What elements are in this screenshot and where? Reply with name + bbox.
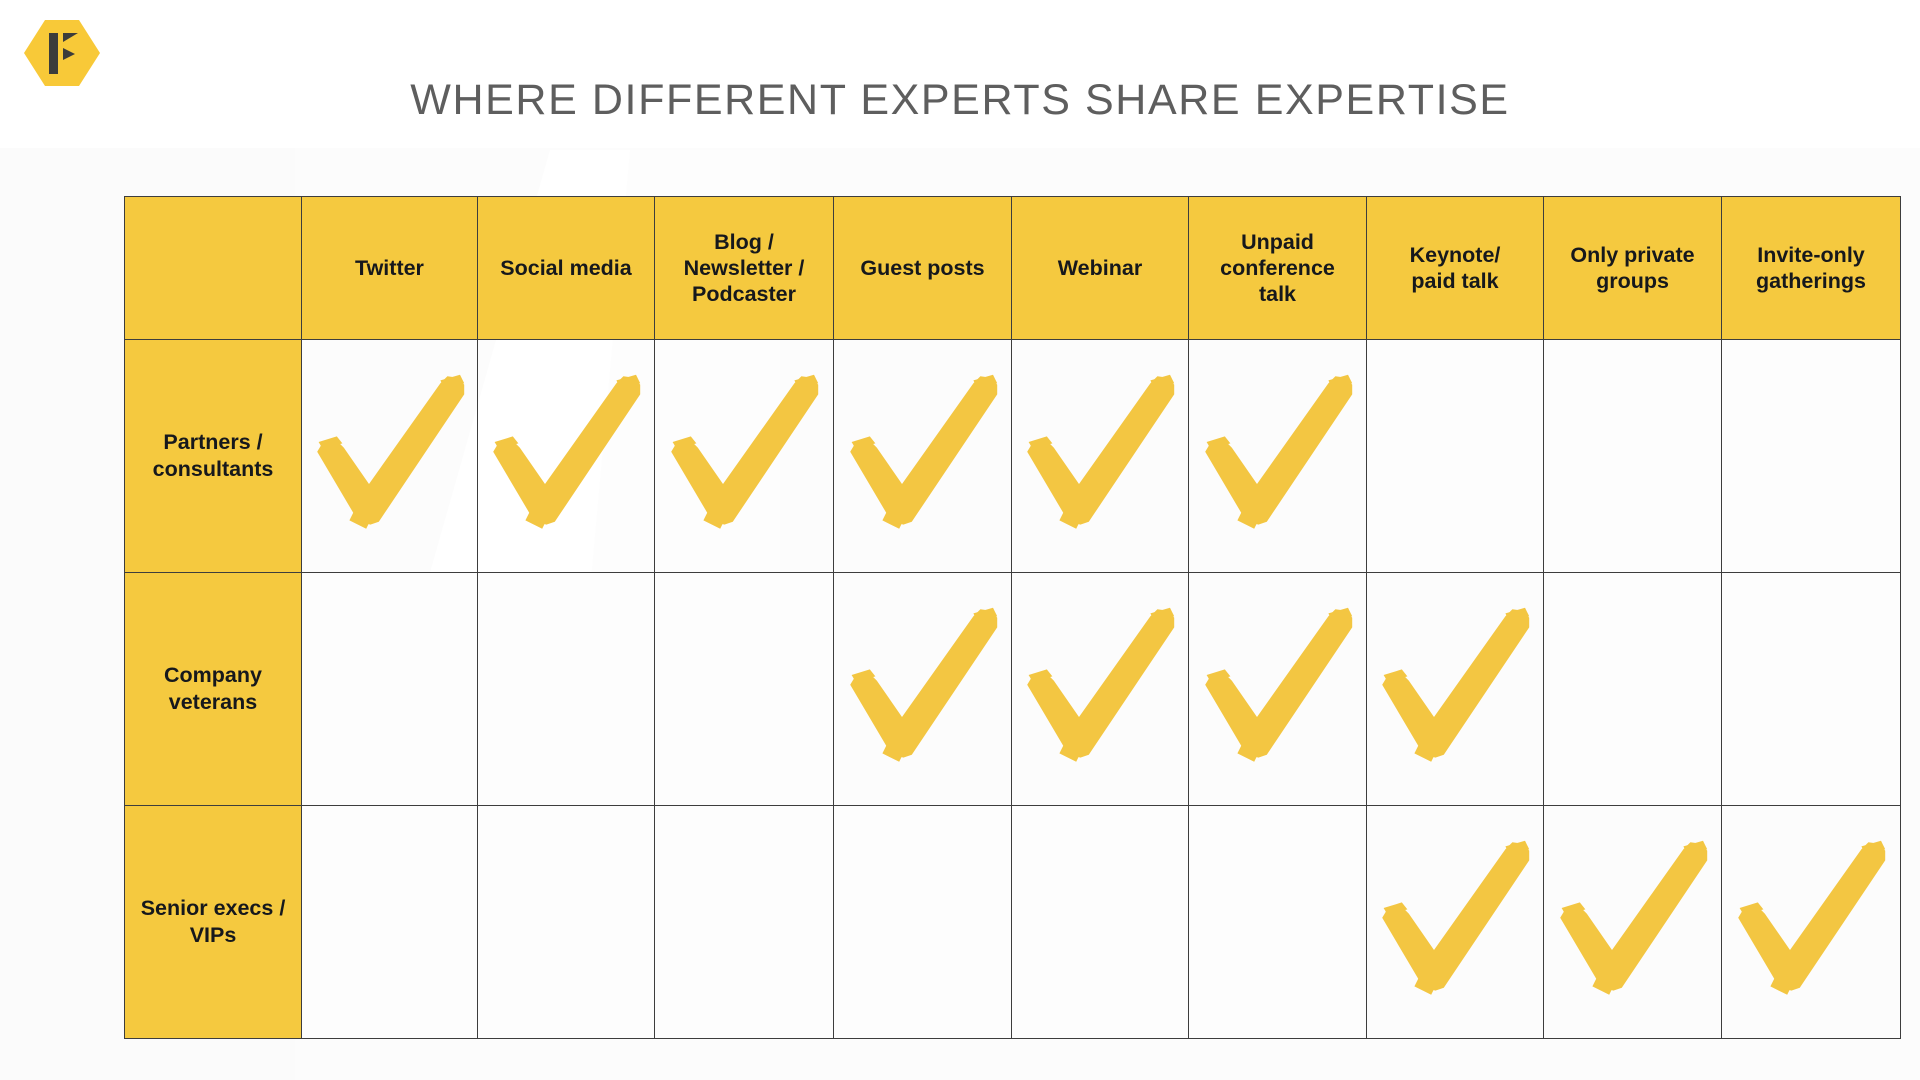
column-header-line: Podcaster bbox=[655, 281, 833, 307]
matrix-cell-checked[interactable] bbox=[1012, 340, 1189, 573]
matrix-cell-empty[interactable] bbox=[1189, 806, 1367, 1039]
column-header-social-media: Social media bbox=[478, 197, 655, 340]
hand-drawn-checkmark-icon bbox=[1012, 340, 1188, 572]
column-header-blog-newsletter-podcaster: Blog / Newsletter / Podcaster bbox=[655, 197, 834, 340]
row-label-line: Partners / bbox=[125, 429, 301, 456]
row-label-line: Company bbox=[125, 662, 301, 689]
matrix-cell-empty[interactable] bbox=[478, 573, 655, 806]
column-header-line: Invite-only bbox=[1722, 242, 1900, 268]
column-header-line: conference bbox=[1189, 255, 1366, 281]
matrix-cell-empty[interactable] bbox=[302, 806, 478, 1039]
hand-drawn-checkmark-icon bbox=[302, 340, 477, 572]
column-header-keynote-paid-talk: Keynote/ paid talk bbox=[1367, 197, 1544, 340]
column-header-line: Webinar bbox=[1012, 255, 1188, 281]
table-row: Partners /consultants bbox=[125, 340, 1901, 573]
hand-drawn-checkmark-icon bbox=[1189, 573, 1366, 805]
matrix-cell-checked[interactable] bbox=[478, 340, 655, 573]
matrix-cell-empty[interactable] bbox=[655, 573, 834, 806]
matrix-cell-empty[interactable] bbox=[478, 806, 655, 1039]
column-header-line: Twitter bbox=[302, 255, 477, 281]
page-title: WHERE DIFFERENT EXPERTS SHARE EXPERTISE bbox=[0, 76, 1920, 125]
hand-drawn-checkmark-icon bbox=[1189, 340, 1366, 572]
column-header-line: gatherings bbox=[1722, 268, 1900, 294]
column-header-line: Blog / bbox=[655, 229, 833, 255]
row-label-line: Senior execs / bbox=[125, 895, 301, 922]
hand-drawn-checkmark-icon bbox=[1722, 806, 1900, 1038]
matrix-cell-checked[interactable] bbox=[1367, 573, 1544, 806]
matrix-cell-empty[interactable] bbox=[1012, 806, 1189, 1039]
matrix-cell-checked[interactable] bbox=[302, 340, 478, 573]
expertise-matrix-table: Twitter Social media Blog / Newsletter /… bbox=[124, 196, 1901, 1039]
table-corner-cell bbox=[125, 197, 302, 340]
matrix-cell-empty[interactable] bbox=[655, 806, 834, 1039]
column-header-line: paid talk bbox=[1367, 268, 1543, 294]
column-header-line: Keynote/ bbox=[1367, 242, 1543, 268]
hand-drawn-checkmark-icon bbox=[1544, 806, 1721, 1038]
matrix-cell-checked[interactable] bbox=[834, 573, 1012, 806]
hand-drawn-checkmark-icon bbox=[478, 340, 654, 572]
row-label-2: Companyveterans bbox=[125, 573, 302, 806]
table-header-row: Twitter Social media Blog / Newsletter /… bbox=[125, 197, 1901, 340]
column-header-line: Unpaid bbox=[1189, 229, 1366, 255]
hand-drawn-checkmark-icon bbox=[834, 340, 1011, 572]
matrix-cell-empty[interactable] bbox=[1544, 340, 1722, 573]
row-label-line: VIPs bbox=[125, 922, 301, 949]
matrix-cell-checked[interactable] bbox=[1367, 806, 1544, 1039]
matrix-cell-checked[interactable] bbox=[1189, 340, 1367, 573]
matrix-cell-checked[interactable] bbox=[1012, 573, 1189, 806]
column-header-only-private-groups: Only private groups bbox=[1544, 197, 1722, 340]
column-header-line: groups bbox=[1544, 268, 1721, 294]
row-label-line: consultants bbox=[125, 456, 301, 483]
column-header-line: Guest posts bbox=[834, 255, 1011, 281]
column-header-line: talk bbox=[1189, 281, 1366, 307]
matrix-cell-empty[interactable] bbox=[1722, 340, 1901, 573]
hand-drawn-checkmark-icon bbox=[1012, 573, 1188, 805]
table-row: Companyveterans bbox=[125, 573, 1901, 806]
column-header-invite-only-gatherings: Invite-only gatherings bbox=[1722, 197, 1901, 340]
row-label-line: veterans bbox=[125, 689, 301, 716]
column-header-twitter: Twitter bbox=[302, 197, 478, 340]
hand-drawn-checkmark-icon bbox=[1367, 806, 1543, 1038]
matrix-cell-checked[interactable] bbox=[1544, 806, 1722, 1039]
table-body: Partners /consultantsCompanyveteransSeni… bbox=[125, 340, 1901, 1039]
column-header-line: Newsletter / bbox=[655, 255, 833, 281]
table-row: Senior execs /VIPs bbox=[125, 806, 1901, 1039]
column-header-line: Social media bbox=[478, 255, 654, 281]
matrix-cell-empty[interactable] bbox=[1367, 340, 1544, 573]
matrix-cell-empty[interactable] bbox=[1544, 573, 1722, 806]
hand-drawn-checkmark-icon bbox=[834, 573, 1011, 805]
matrix-cell-checked[interactable] bbox=[834, 340, 1012, 573]
matrix-cell-empty[interactable] bbox=[302, 573, 478, 806]
matrix-cell-checked[interactable] bbox=[1189, 573, 1367, 806]
hand-drawn-checkmark-icon bbox=[1367, 573, 1543, 805]
matrix-cell-checked[interactable] bbox=[1722, 806, 1901, 1039]
row-label-3: Senior execs /VIPs bbox=[125, 806, 302, 1039]
row-label-1: Partners /consultants bbox=[125, 340, 302, 573]
column-header-line: Only private bbox=[1544, 242, 1721, 268]
column-header-unpaid-conference-talk: Unpaid conference talk bbox=[1189, 197, 1367, 340]
column-header-guest-posts: Guest posts bbox=[834, 197, 1012, 340]
matrix-cell-checked[interactable] bbox=[655, 340, 834, 573]
hand-drawn-checkmark-icon bbox=[655, 340, 833, 572]
column-header-webinar: Webinar bbox=[1012, 197, 1189, 340]
matrix-cell-empty[interactable] bbox=[834, 806, 1012, 1039]
matrix-cell-empty[interactable] bbox=[1722, 573, 1901, 806]
